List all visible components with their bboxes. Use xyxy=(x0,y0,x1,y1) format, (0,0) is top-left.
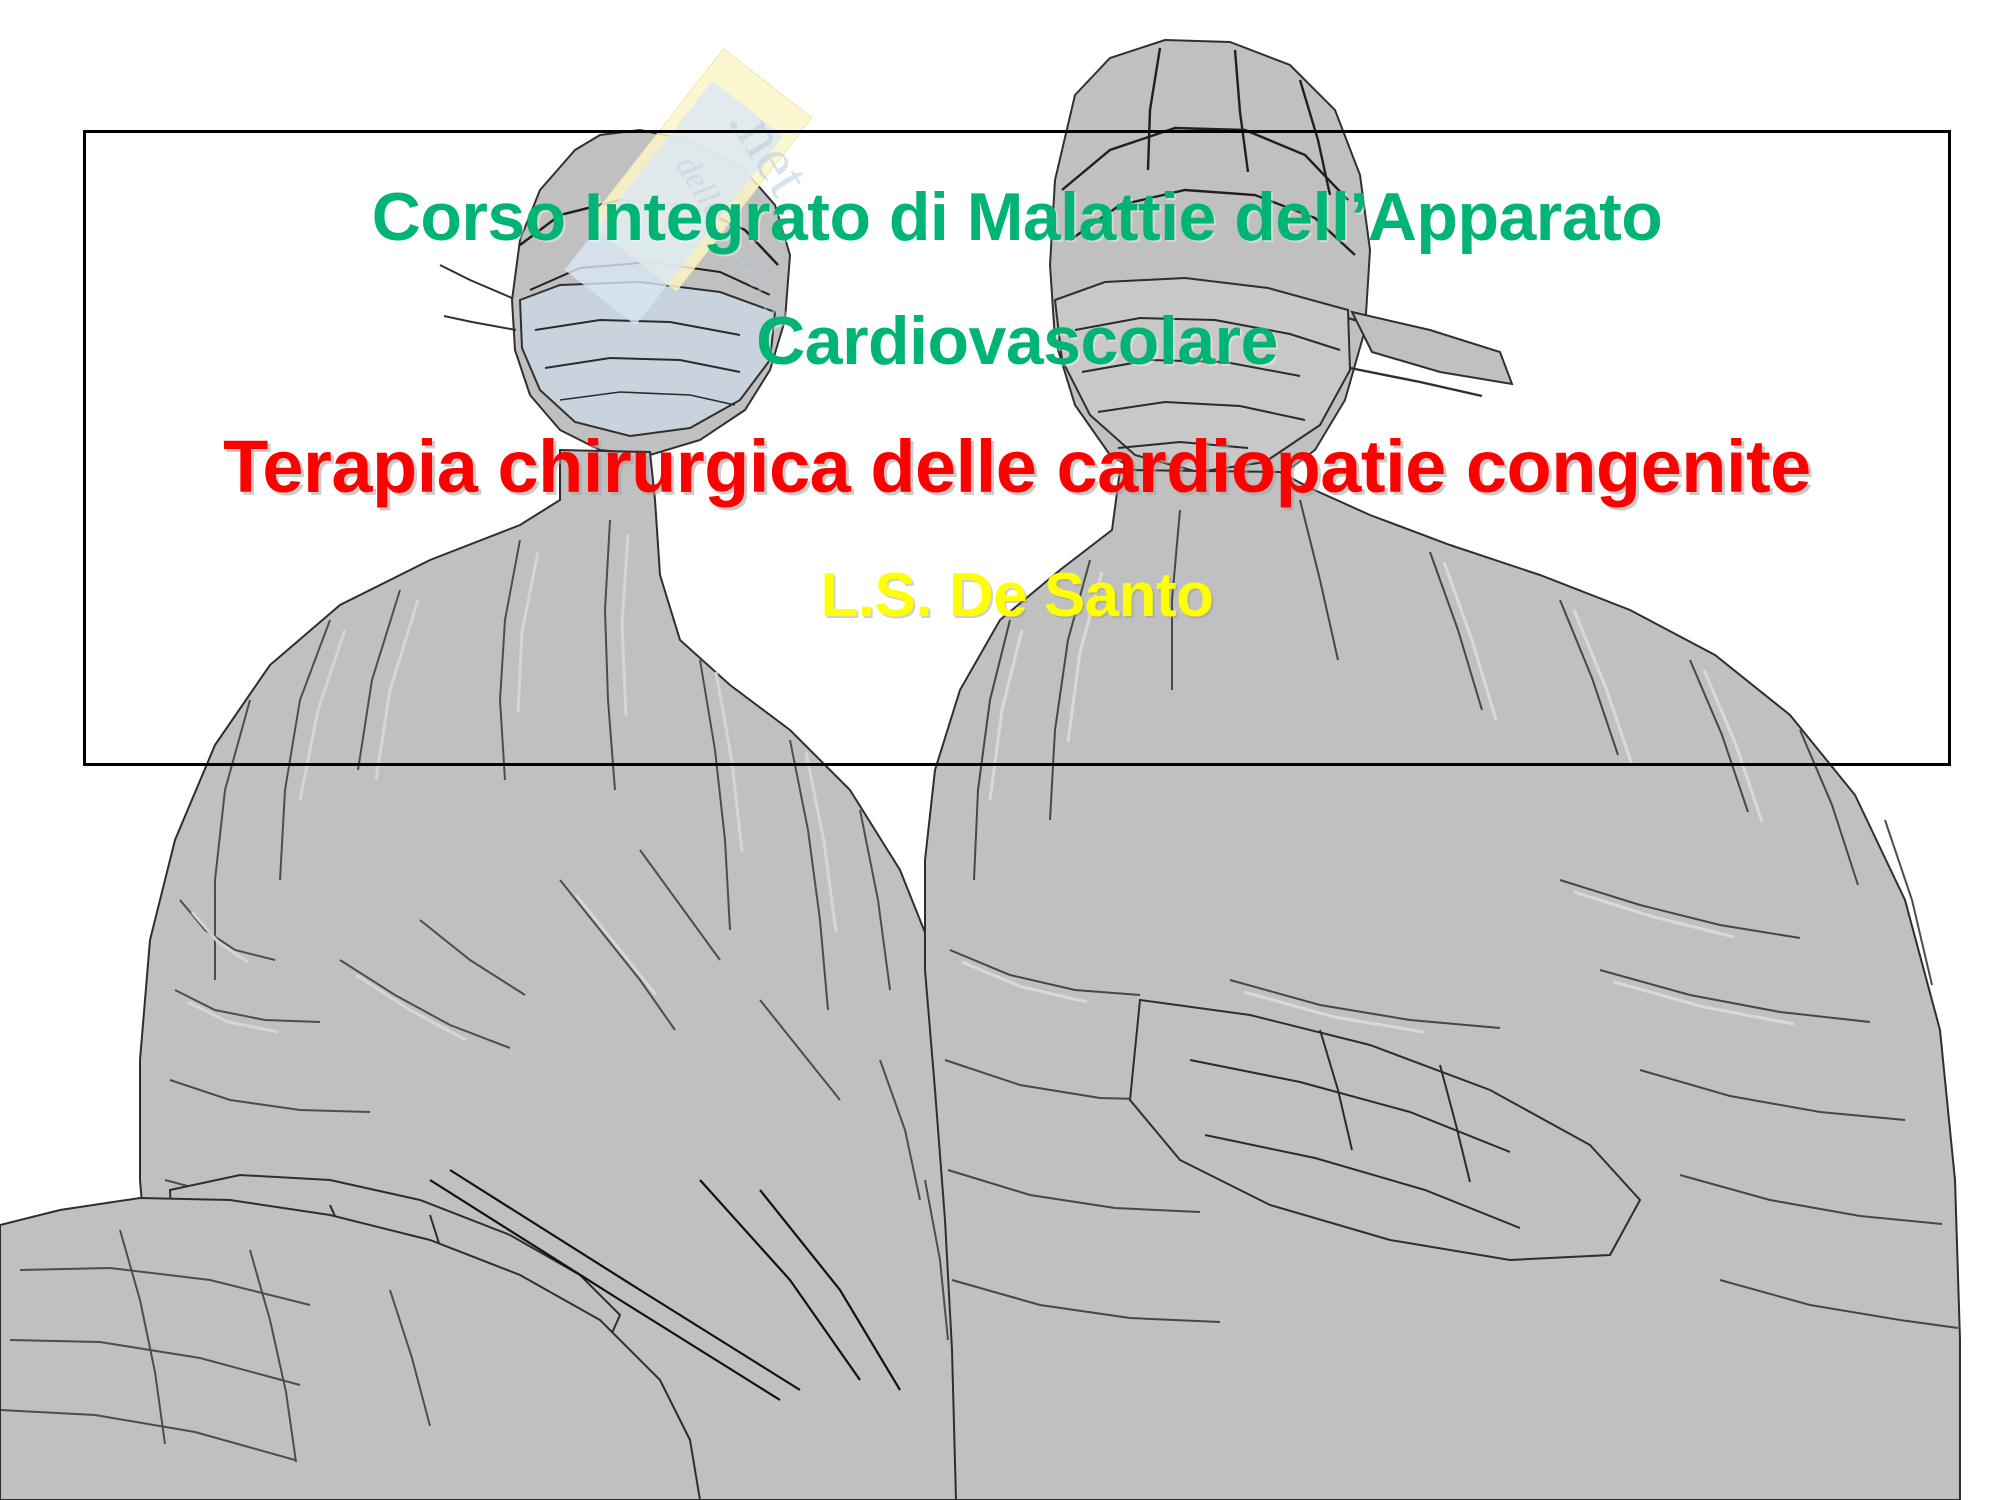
lecture-title: Terapia chirurgica delle cardiopatie con… xyxy=(86,403,1948,531)
course-title-line-1: Corso Integrato di Malattie dell’Apparat… xyxy=(86,155,1948,279)
title-text-box: Corso Integrato di Malattie dell’Apparat… xyxy=(83,130,1951,766)
course-title-line-2: Cardiovascolare xyxy=(86,279,1948,403)
presentation-slide: .net dello studente Corso Integrato di M… xyxy=(0,0,2000,1500)
author-name: L.S. De Santo xyxy=(86,531,1948,661)
